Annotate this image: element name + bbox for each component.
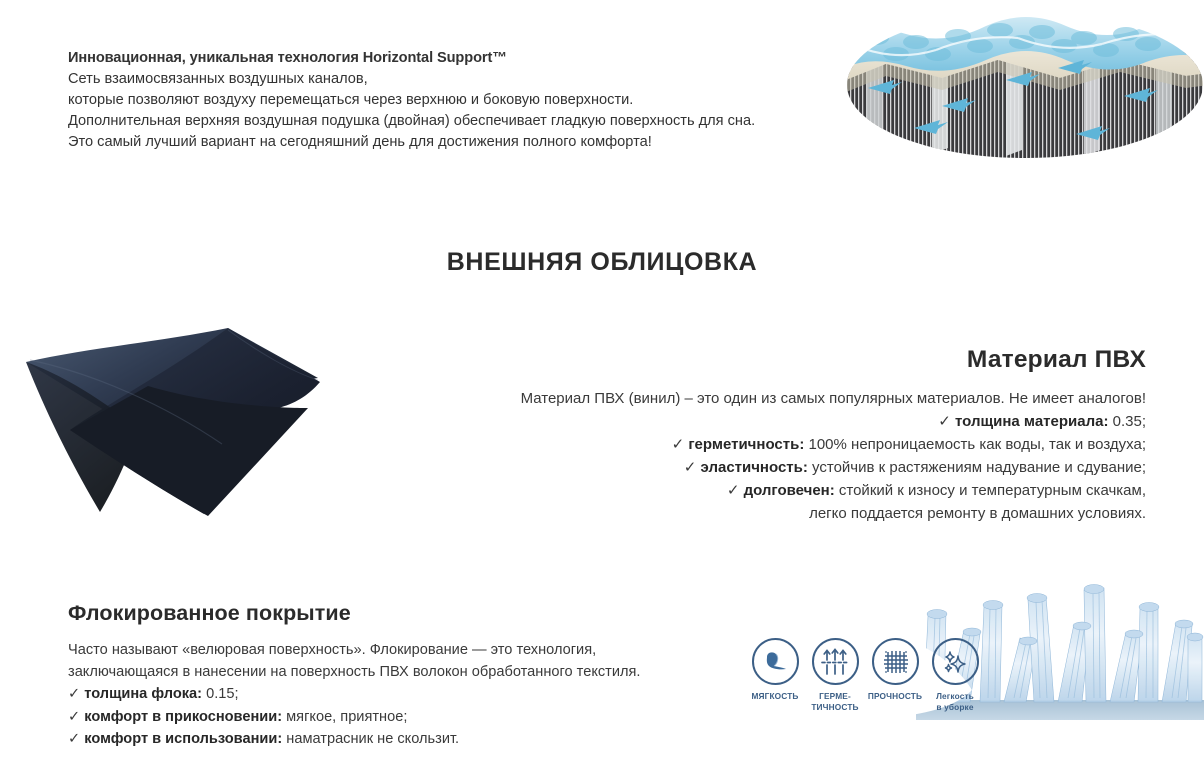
flock-feature-touch-value: мягкое, приятное; bbox=[286, 709, 407, 725]
badge-durability: ПРОЧНОСТЬ bbox=[868, 638, 922, 702]
pvc-feature-airtight-label: герметичность: bbox=[688, 436, 804, 453]
badge-softness-caption: МЯГКОСТЬ bbox=[751, 691, 798, 702]
check-icon: ✓ bbox=[68, 709, 80, 725]
flock-feature-thickness-value: 0.15; bbox=[206, 686, 238, 702]
check-icon: ✓ bbox=[684, 459, 697, 476]
badge-easy-cleaning-caption: Легкость в уборке bbox=[936, 691, 974, 712]
pvc-feature-airtight-value: 100% непроницаемость как воды, так и воз… bbox=[809, 436, 1147, 453]
flock-paragraph-line-1: Часто называют «велюровая поверхность». … bbox=[68, 639, 728, 661]
flock-coating-block: Флокированное покрытие Часто называют «в… bbox=[68, 600, 728, 751]
pvc-intro: Материал ПВХ (винил) – это один из самых… bbox=[426, 387, 1146, 410]
intro-line-4: Это самый лучший вариант на сегодняшний … bbox=[68, 132, 858, 153]
check-icon: ✓ bbox=[727, 482, 740, 499]
check-icon: ✓ bbox=[68, 731, 80, 747]
flock-feature-use-value: наматрасник не скользит. bbox=[286, 731, 459, 747]
airflow-cutaway-image bbox=[846, 10, 1204, 160]
badge-easy-cleaning: Легкость в уборке bbox=[928, 638, 982, 712]
flock-title: Флокированное покрытие bbox=[68, 600, 728, 626]
pvc-title: Материал ПВХ bbox=[426, 346, 1146, 374]
flock-feature-use: ✓ комфорт в использовании: наматрасник н… bbox=[68, 728, 728, 751]
check-icon: ✓ bbox=[938, 413, 951, 430]
pvc-feature-durability: ✓ долговечен: стойкий к износу и темпера… bbox=[426, 479, 1146, 502]
check-icon: ✓ bbox=[68, 686, 80, 702]
intro-line-2: которые позволяют воздуху перемещаться ч… bbox=[68, 90, 858, 111]
flock-feature-touch: ✓ комфорт в прикосновении: мягкое, прият… bbox=[68, 706, 728, 729]
intro-line-3: Дополнительная верхняя воздушная подушка… bbox=[68, 111, 858, 132]
pvc-feature-thickness-label: толщина материала: bbox=[955, 413, 1108, 430]
benefit-badges: МЯГКОСТЬ ГЕРМЕ- ТИЧНОСТЬ bbox=[748, 638, 984, 734]
flock-paragraph-line-2: заключающаяся в нанесении на поверхность… bbox=[68, 661, 728, 683]
flock-feature-touch-label: комфорт в прикосновении: bbox=[84, 709, 282, 725]
badge-airtightness: ГЕРМЕ- ТИЧНОСТЬ bbox=[808, 638, 862, 712]
pvc-feature-durability-value: стойкий к износу и температурным скачкам… bbox=[839, 482, 1146, 499]
pvc-feature-thickness: ✓ толщина материала: 0.35; bbox=[426, 410, 1146, 433]
intro-text-block: Инновационная, уникальная технология Hor… bbox=[68, 48, 858, 153]
pvc-feature-elasticity: ✓ эластичность: устойчив к растяжениям н… bbox=[426, 456, 1146, 479]
pvc-feature-durability-label: долговечен: bbox=[744, 482, 835, 499]
badge-airtightness-caption: ГЕРМЕ- ТИЧНОСТЬ bbox=[811, 691, 858, 712]
check-icon: ✓ bbox=[672, 436, 685, 453]
pvc-feature-elasticity-label: эластичность: bbox=[701, 459, 808, 476]
mesh-grid-icon bbox=[872, 638, 919, 685]
badge-durability-caption: ПРОЧНОСТЬ bbox=[868, 691, 922, 702]
pvc-feature-thickness-value: 0.35; bbox=[1113, 413, 1146, 430]
sparkles-icon bbox=[932, 638, 979, 685]
pvc-feature-durability-tail: легко поддается ремонту в домашних услов… bbox=[426, 502, 1146, 525]
flock-feature-thickness-label: толщина флока: bbox=[84, 686, 202, 702]
pvc-sheet-image bbox=[8, 312, 408, 524]
intro-headline: Инновационная, уникальная технология Hor… bbox=[68, 48, 858, 69]
airtight-arrows-icon bbox=[812, 638, 859, 685]
feather-icon bbox=[752, 638, 799, 685]
pvc-material-block: Материал ПВХ Материал ПВХ (винил) – это … bbox=[426, 346, 1146, 525]
flock-feature-thickness: ✓ толщина флока: 0.15; bbox=[68, 683, 728, 706]
flock-feature-use-label: комфорт в использовании: bbox=[84, 731, 282, 747]
section-title: ВНЕШНЯЯ ОБЛИЦОВКА bbox=[0, 248, 1204, 277]
badge-softness: МЯГКОСТЬ bbox=[748, 638, 802, 702]
pvc-feature-elasticity-value: устойчив к растяжениям надувание и сдува… bbox=[812, 459, 1146, 476]
pvc-feature-airtight: ✓ герметичность: 100% непроницаемость ка… bbox=[426, 433, 1146, 456]
intro-line-1: Сеть взаимосвязанных воздушных каналов, bbox=[68, 69, 858, 90]
